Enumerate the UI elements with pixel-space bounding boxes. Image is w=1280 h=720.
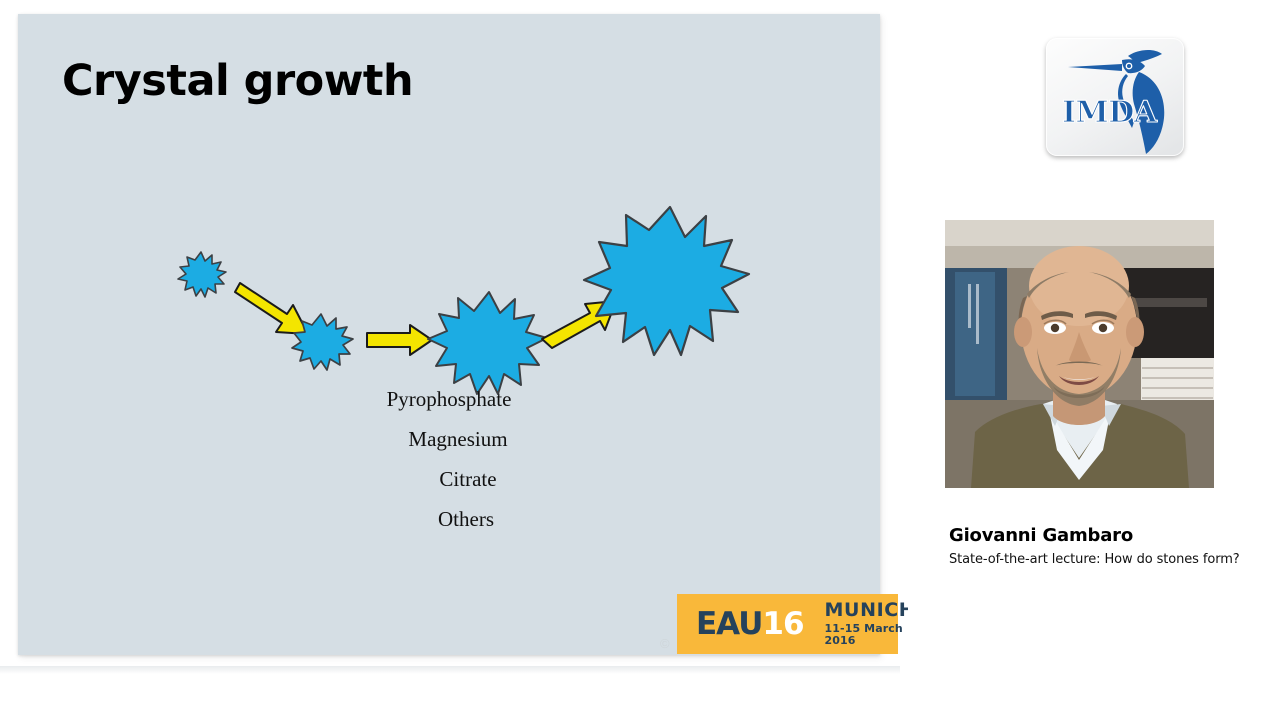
copyright-symbol: © xyxy=(660,636,670,651)
svg-text:IMDA: IMDA xyxy=(1062,95,1158,130)
slide-shadow-strip xyxy=(0,666,900,674)
eau-wordmark: EAU16 xyxy=(696,609,804,640)
arrow-icon xyxy=(367,325,432,355)
crystal-star-2 xyxy=(292,314,353,370)
modifier-item-magnesium: Magnesium xyxy=(348,419,568,459)
slide-title: Crystal growth xyxy=(62,56,413,106)
imd-wordmark: IMDA xyxy=(1062,95,1158,130)
arrow-icon xyxy=(235,283,308,334)
crystal-star-1 xyxy=(178,252,226,297)
speaker-talk-title: State-of-the-art lecture: How do stones … xyxy=(949,552,1240,567)
presentation-viewer: Crystal growth xyxy=(0,0,1280,720)
eau16-congress-logo: EAU16 MUNICH 11-15 March 2016 xyxy=(677,594,898,654)
crystal-modifier-list: Pyrophosphate Magnesium Citrate Others xyxy=(348,379,568,539)
slide-viewer: Crystal growth xyxy=(0,0,908,672)
speaker-photo xyxy=(945,220,1214,488)
eau-city-label: MUNICH xyxy=(825,601,916,621)
crystal-star-4 xyxy=(584,207,749,355)
growth-arrow-3 xyxy=(542,301,616,348)
starburst-icon xyxy=(178,252,226,297)
growth-arrow-2 xyxy=(367,325,432,355)
eau-year-label: 16 xyxy=(762,606,803,642)
growth-arrow-1 xyxy=(235,283,308,334)
modifier-item-citrate: Citrate xyxy=(368,459,568,499)
slide-canvas[interactable]: Crystal growth xyxy=(18,14,880,655)
starburst-icon xyxy=(584,207,749,355)
arrow-icon xyxy=(542,301,616,348)
starburst-icon xyxy=(292,314,353,370)
imd-organization-logo[interactable]: IMDA xyxy=(1046,38,1184,156)
modifier-item-others: Others xyxy=(364,499,568,539)
eau-location-block: MUNICH 11-15 March 2016 xyxy=(825,601,916,646)
eau-dates-label: 11-15 March 2016 xyxy=(825,623,916,646)
eau-label: EAU xyxy=(696,606,762,642)
modifier-item-pyrophosphate: Pyrophosphate xyxy=(330,379,568,419)
speaker-panel: IMDA xyxy=(908,0,1280,720)
speaker-name: Giovanni Gambaro xyxy=(949,525,1133,546)
